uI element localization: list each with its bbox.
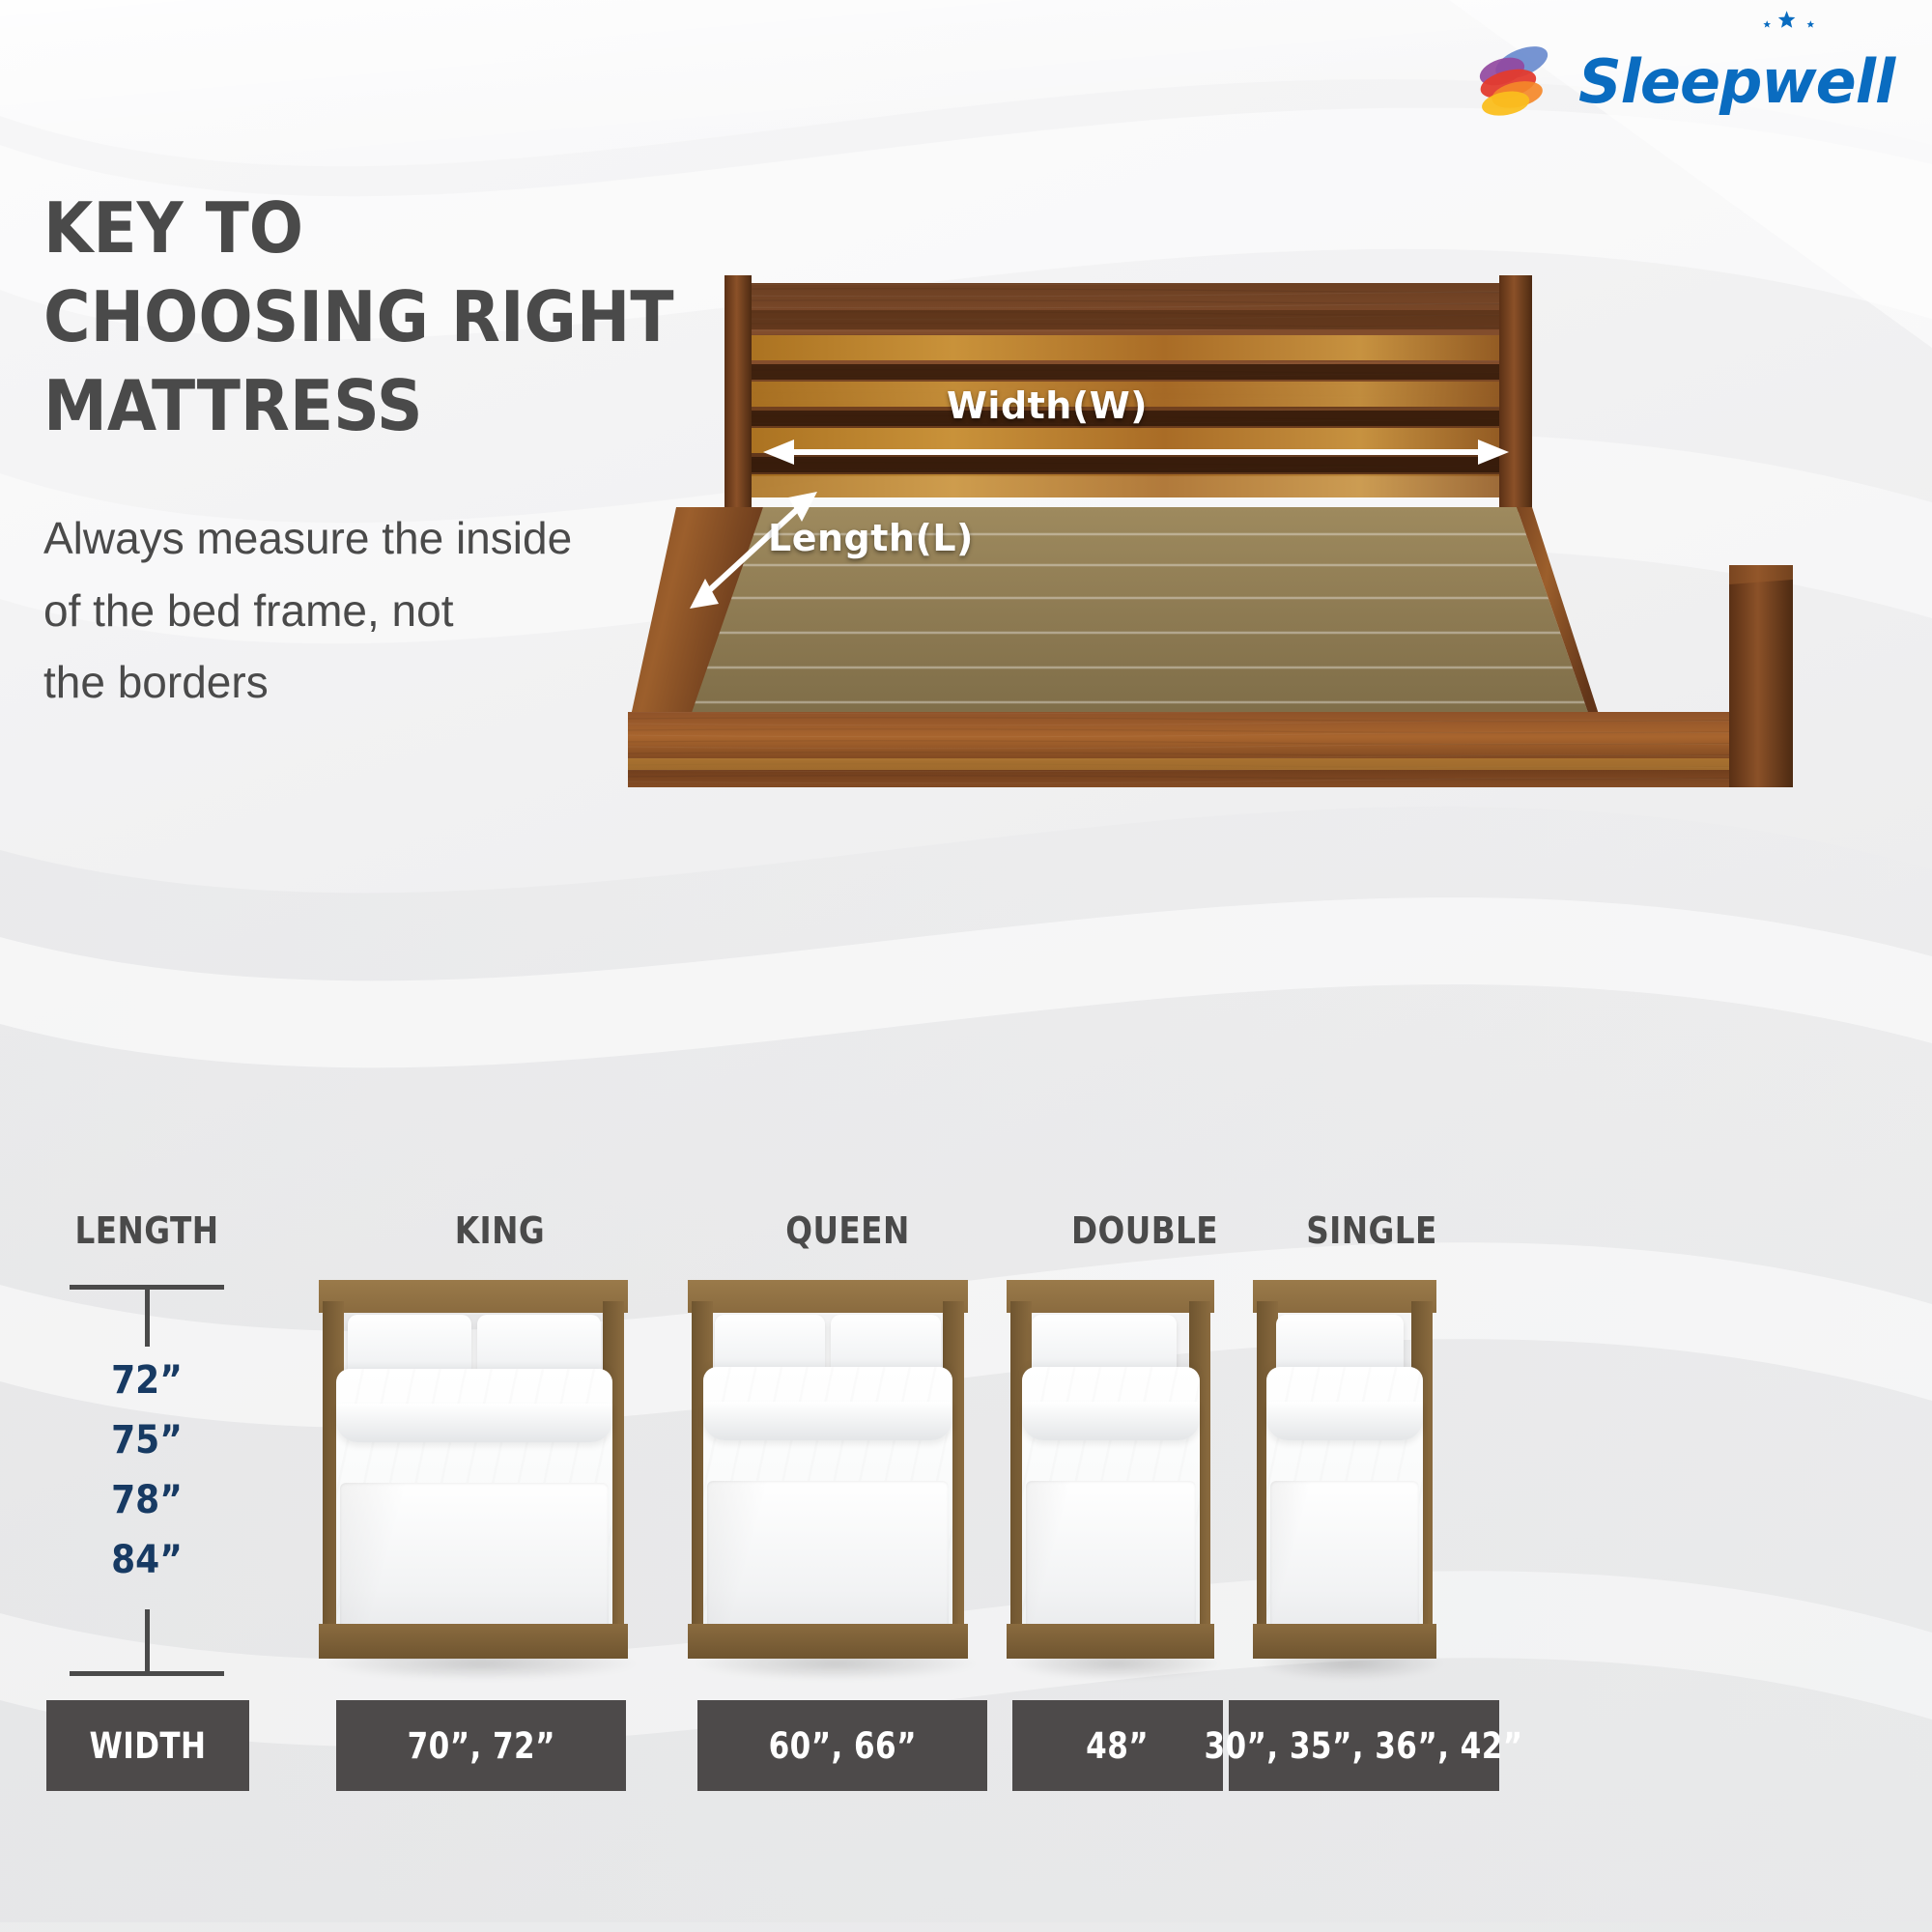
length-dimension-label: Length(L)	[768, 517, 974, 559]
chip-single-text: 30”, 35”, 36”, 42”	[1205, 1725, 1523, 1767]
stars-icon	[1754, 8, 1822, 37]
brand-name: Sleepwell	[1578, 52, 1894, 112]
column-header-single: SINGLE	[1272, 1209, 1471, 1252]
bracket-bottom-cap	[70, 1671, 224, 1676]
bed-illustration-single	[1253, 1280, 1446, 1662]
headboard	[1253, 1280, 1436, 1313]
footboard	[1007, 1624, 1214, 1659]
headboard	[1007, 1280, 1214, 1313]
bed-illustration-double	[1007, 1280, 1224, 1662]
chip-width-label: WIDTH	[46, 1700, 249, 1791]
length-value-0: 72”	[77, 1350, 216, 1410]
brand-logo[interactable]: Sleepwell	[1468, 29, 1874, 135]
length-value-2: 78”	[77, 1470, 216, 1530]
chip-king-text: 70”, 72”	[407, 1725, 554, 1767]
headboard	[319, 1280, 628, 1313]
chip-double-width: 48”	[1012, 1700, 1223, 1791]
mattress	[1026, 1481, 1196, 1635]
duvet-fold	[1266, 1402, 1423, 1440]
headboard	[688, 1280, 968, 1313]
chip-double-text: 48”	[1087, 1725, 1150, 1767]
bracket-top-stem	[145, 1285, 150, 1347]
bed-illustration-king	[319, 1280, 638, 1662]
column-header-queen: QUEEN	[733, 1209, 962, 1252]
duvet-fold	[1022, 1402, 1200, 1440]
sleepwell-swirl-logo	[1468, 38, 1557, 127]
footboard	[688, 1624, 968, 1659]
footboard	[319, 1624, 628, 1659]
page-subtitle: Always measure the inside of the bed fra…	[43, 502, 662, 719]
chip-single-width: 30”, 35”, 36”, 42”	[1229, 1700, 1499, 1791]
duvet-fold	[703, 1402, 952, 1440]
chip-queen-width: 60”, 66”	[697, 1700, 987, 1791]
subtitle-line-3: the borders	[43, 646, 662, 719]
subtitle-line-2: of the bed frame, not	[43, 575, 662, 647]
chip-king-width: 70”, 72”	[336, 1700, 626, 1791]
duvet-fold	[336, 1404, 612, 1442]
length-value-1: 75”	[77, 1410, 216, 1470]
page-title: KEY TO CHOOSING RIGHT MATTRESS	[43, 184, 666, 450]
title-line-2: CHOOSING RIGHT	[43, 272, 666, 361]
mattress	[1270, 1481, 1419, 1635]
bed-illustration-queen	[688, 1280, 978, 1662]
infographic-canvas: Sleepwell KEY TO CHOOSING RIGHT MATTRESS…	[0, 0, 1932, 1932]
width-dimension-label: Width(W)	[947, 384, 1148, 427]
column-header-length: LENGTH	[55, 1209, 238, 1252]
mattress	[340, 1483, 609, 1635]
bracket-bottom-stem	[145, 1609, 150, 1671]
mattress	[707, 1481, 949, 1635]
subtitle-line-1: Always measure the inside	[43, 502, 662, 575]
footboard	[1253, 1624, 1436, 1659]
column-header-king: KING	[385, 1209, 614, 1252]
column-header-double: DOUBLE	[1045, 1209, 1244, 1252]
chip-width-text: WIDTH	[90, 1725, 207, 1767]
chip-queen-text: 60”, 66”	[768, 1725, 916, 1767]
length-values-list: 72” 75” 78” 84”	[70, 1350, 224, 1590]
title-line-3: MATTRESS	[43, 361, 666, 450]
length-value-3: 84”	[77, 1530, 216, 1590]
title-line-1: KEY TO	[43, 184, 666, 272]
